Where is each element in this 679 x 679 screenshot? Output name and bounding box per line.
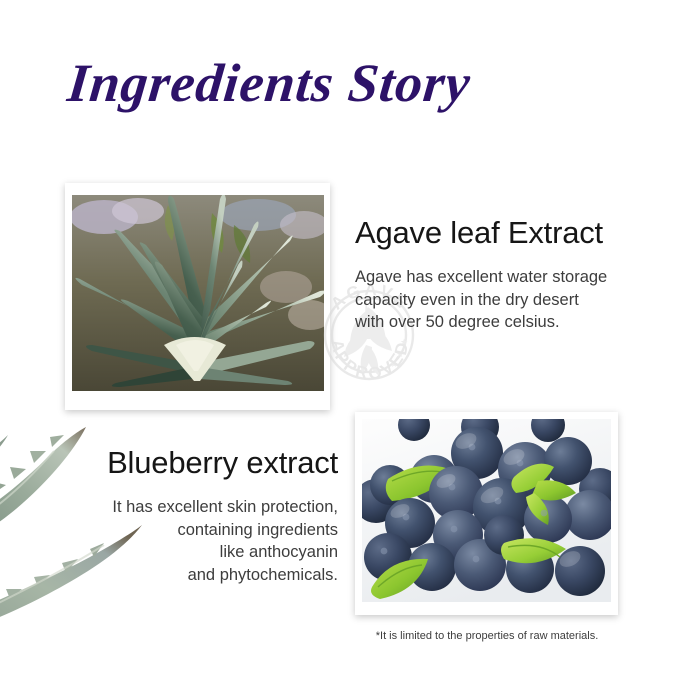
ingredients-story-page: Ingredients Story xyxy=(0,0,679,679)
agave-photo-frame xyxy=(65,183,330,410)
blueberry-text-block: Blueberry extract It has excellent skin … xyxy=(47,444,338,586)
blueberry-photo xyxy=(362,419,611,602)
agave-description: Agave has excellent water storage capaci… xyxy=(355,266,645,334)
page-title: Ingredients Story xyxy=(65,50,492,116)
blueberry-description-line: like anthocyanin xyxy=(47,541,338,564)
blueberry-photo-frame xyxy=(355,412,618,615)
agave-heading: Agave leaf Extract xyxy=(355,214,645,252)
blueberry-description-line: containing ingredients xyxy=(47,519,338,542)
blueberry-description-line: It has excellent skin protection, xyxy=(47,496,338,519)
agave-text-block: Agave leaf Extract Agave has excellent w… xyxy=(355,214,645,334)
agave-leaf-tip xyxy=(0,435,8,474)
blueberry-heading: Blueberry extract xyxy=(47,444,338,482)
agave-plant-photo-graphic xyxy=(72,195,324,391)
stamp-bottom-text: APPROVED xyxy=(327,338,412,384)
svg-text:★: ★ xyxy=(390,359,398,369)
agave-photo xyxy=(72,195,324,391)
blueberries-photo-graphic xyxy=(362,419,611,602)
footnote-text: *It is limited to the properties of raw … xyxy=(355,629,619,644)
svg-text:★: ★ xyxy=(396,349,404,359)
agave-description-line: with over 50 degree celsius. xyxy=(355,311,645,334)
blueberry-description: It has excellent skin protection, contai… xyxy=(47,496,338,586)
agave-description-line: capacity even in the dry desert xyxy=(355,289,645,312)
blueberry-description-line: and phytochemicals. xyxy=(47,564,338,587)
agave-description-line: Agave has excellent water storage xyxy=(355,266,645,289)
svg-text:★: ★ xyxy=(400,337,408,347)
